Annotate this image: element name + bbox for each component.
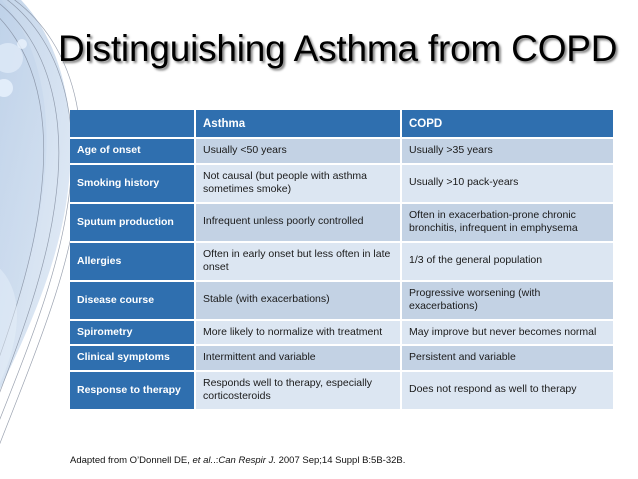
cell-copd-sputum-production: Often in exacerbation-prone chronic bron…	[402, 204, 613, 243]
row-label-spirometry: Spirometry	[70, 321, 196, 347]
cell-copd-allergies: 1/3 of the general population	[402, 243, 613, 282]
table-row: Response to therapy Responds well to the…	[70, 372, 613, 409]
citation-suffix: 2007 Sep;14 Suppl B:5B-32B.	[276, 455, 405, 466]
table-row: Disease course Stable (with exacerbation…	[70, 282, 613, 321]
citation-journal: Can Respir J.	[218, 455, 276, 466]
table-row: Sputum production Infrequent unless poor…	[70, 204, 613, 243]
comparison-table-container: Asthma COPD Age of onset Usually <50 yea…	[70, 110, 613, 409]
row-label-allergies: Allergies	[70, 243, 196, 282]
table-row: Clinical symptoms Intermittent and varia…	[70, 346, 613, 372]
cell-copd-clinical-symptoms: Persistent and variable	[402, 346, 613, 372]
blue-petal-inner	[0, 0, 47, 440]
bubble-circle-small	[0, 79, 13, 97]
bubble-circle-large	[0, 43, 23, 73]
cell-asthma-smoking-history: Not causal (but people with asthma somet…	[196, 165, 402, 204]
cell-copd-response-to-therapy: Does not respond as well to therapy	[402, 372, 613, 409]
cell-asthma-response-to-therapy: Responds well to therapy, especially cor…	[196, 372, 402, 409]
cell-asthma-clinical-symptoms: Intermittent and variable	[196, 346, 402, 372]
bubble-circle-tiny	[17, 39, 27, 49]
row-label-smoking-history: Smoking history	[70, 165, 196, 204]
table-row: Allergies Often in early onset but less …	[70, 243, 613, 282]
row-label-sputum-production: Sputum production	[70, 204, 196, 243]
slide-canvas: Distinguishing Asthma from COPD Asthma C…	[0, 0, 638, 479]
cell-asthma-sputum-production: Infrequent unless poorly controlled	[196, 204, 402, 243]
table-row: Smoking history Not causal (but people w…	[70, 165, 613, 204]
table-header-row: Asthma COPD	[70, 110, 613, 139]
cell-copd-age-of-onset: Usually >35 years	[402, 139, 613, 165]
asthma-copd-comparison-table: Asthma COPD Age of onset Usually <50 yea…	[70, 110, 613, 409]
cell-copd-disease-course: Progressive worsening (with exacerbation…	[402, 282, 613, 321]
row-label-age-of-onset: Age of onset	[70, 139, 196, 165]
table-row: Age of onset Usually <50 years Usually >…	[70, 139, 613, 165]
cell-asthma-disease-course: Stable (with exacerbations)	[196, 282, 402, 321]
page-title: Distinguishing Asthma from COPD	[58, 26, 628, 72]
source-citation: Adapted from O’Donnell DE, et al..:Can R…	[70, 455, 405, 467]
row-label-response-to-therapy: Response to therapy	[70, 372, 196, 409]
cell-asthma-spirometry: More likely to normalize with treatment	[196, 321, 402, 347]
cell-asthma-allergies: Often in early onset but less often in l…	[196, 243, 402, 282]
citation-et-al: et al.	[193, 455, 214, 466]
header-cell-blank	[70, 110, 196, 139]
table-row: Spirometry More likely to normalize with…	[70, 321, 613, 347]
cell-asthma-age-of-onset: Usually <50 years	[196, 139, 402, 165]
header-cell-asthma: Asthma	[196, 110, 402, 139]
row-label-clinical-symptoms: Clinical symptoms	[70, 346, 196, 372]
cell-copd-spirometry: May improve but never becomes normal	[402, 321, 613, 347]
citation-prefix: Adapted from O’Donnell DE,	[70, 455, 193, 466]
row-label-disease-course: Disease course	[70, 282, 196, 321]
header-cell-copd: COPD	[402, 110, 613, 139]
cell-copd-smoking-history: Usually >10 pack-years	[402, 165, 613, 204]
highlight-sweep	[0, 250, 17, 420]
